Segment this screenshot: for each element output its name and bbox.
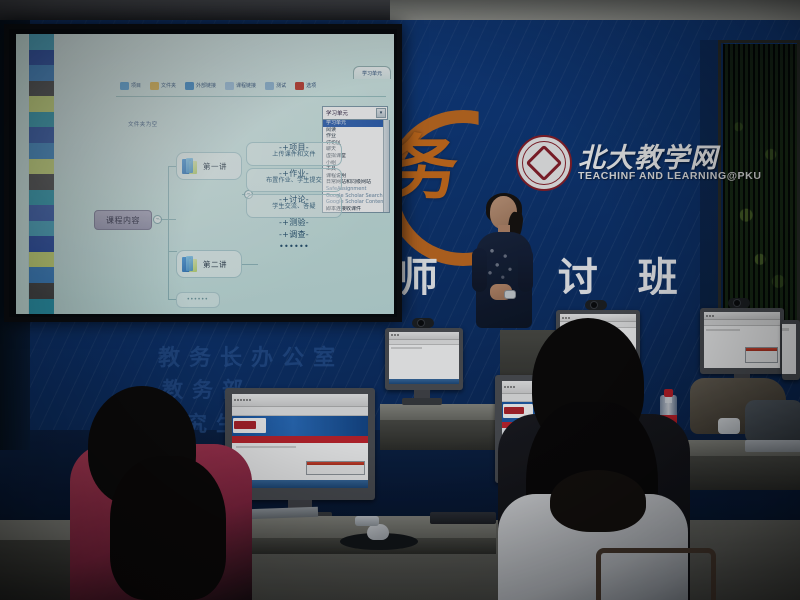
pku-seal-icon	[516, 135, 572, 191]
popup-body	[746, 351, 778, 362]
globe-icon	[185, 82, 194, 90]
shoulder-bag	[745, 400, 800, 444]
color-swatch	[29, 236, 54, 252]
mindmap-branch-desc: 布置作业、学生提交	[249, 178, 339, 185]
link-icon	[225, 82, 234, 90]
color-swatch	[29, 34, 54, 50]
browser-content	[389, 345, 459, 379]
toolbar-button-options[interactable]: 选项	[295, 82, 316, 90]
browser-window[interactable]	[389, 332, 459, 384]
select-value: 学习单元	[326, 109, 348, 117]
color-swatch	[29, 267, 54, 283]
popup-body	[307, 465, 364, 474]
color-swatch	[29, 81, 54, 97]
color-swatch	[29, 112, 54, 128]
toolbar-button-test[interactable]: 测试	[265, 82, 286, 90]
monitor-back-4-screen	[782, 324, 796, 374]
color-swatch	[29, 96, 54, 112]
mindmap-placeholder-node[interactable]: ••••••	[176, 292, 220, 308]
connector-spine	[168, 166, 169, 300]
test-icon	[265, 82, 274, 90]
toolbar-button-globe[interactable]: 外部链接	[185, 82, 216, 90]
color-swatch	[29, 65, 54, 81]
monitor-back-4	[782, 320, 800, 380]
monitor-back-1-base	[402, 398, 442, 405]
mindmap-branch[interactable]: -+作业-布置作业、学生提交	[246, 168, 342, 192]
mindmap-branch[interactable]: -+项目-上传课件和文件	[246, 142, 342, 166]
notification-popup[interactable]	[306, 461, 365, 475]
mindmap-branch-desc: 上传课件和文件	[249, 152, 339, 159]
presenter-wristwatch	[504, 290, 516, 299]
toolbar-button-link[interactable]: 课程链接	[225, 82, 256, 90]
mindmap-branch-desc: 学生交流、答疑	[249, 204, 339, 211]
browser-window[interactable]	[704, 312, 780, 368]
color-swatch	[29, 190, 54, 206]
audience-front-hair	[550, 470, 646, 532]
collapse-toggle-root[interactable]: –	[153, 215, 162, 224]
browser-window[interactable]	[782, 324, 796, 374]
ceiling-left	[0, 0, 400, 22]
toolbar-button-folder[interactable]: 文件夹	[150, 82, 176, 90]
banner-brand-subtitle: TEACHINF AND LEARNING@PKU	[578, 170, 762, 182]
color-swatch	[29, 205, 54, 221]
chair-back	[596, 548, 716, 600]
mindmap-branch-title: ••••••	[248, 243, 340, 251]
browser-content	[704, 326, 780, 368]
banner-headline: 师 研 讨 班	[398, 245, 728, 295]
notification-popup[interactable]	[745, 347, 779, 363]
toolbar-divider	[116, 96, 386, 97]
mindmap-branch-title: -+调查-	[248, 231, 340, 239]
color-calibration-strip	[16, 34, 54, 314]
empty-folder-note: 文件夹为空	[128, 120, 158, 128]
color-swatch	[29, 283, 54, 299]
monitor-back-1-screen	[389, 332, 459, 384]
mindmap-branch[interactable]: -+调查-	[246, 230, 342, 242]
toolbar-button-label: 测试	[276, 82, 286, 89]
webcam-icon	[728, 298, 750, 308]
presenter	[468, 196, 544, 328]
lecture-2-label: 第二讲	[203, 259, 227, 270]
app-toolbar[interactable]: 项目文件夹外部链接课程链接测试选项	[120, 78, 320, 93]
mindmap-branch[interactable]: -+测验-	[246, 218, 342, 230]
color-swatch	[29, 252, 54, 268]
monitor-back-3	[700, 308, 784, 374]
color-swatch	[29, 50, 54, 66]
connector-lecture2-out	[242, 264, 258, 265]
mindmap-branch[interactable]: ••••••	[246, 242, 342, 252]
window-frame	[718, 40, 800, 324]
webcam-icon	[585, 300, 607, 310]
mindmap-root-node[interactable]: 课程内容	[94, 210, 152, 230]
webcam-icon	[412, 318, 434, 328]
options-icon	[295, 82, 304, 90]
mindmap-branch[interactable]: -+讨论-学生交流、答疑	[246, 194, 342, 218]
monitor-back-3-screen	[704, 312, 780, 368]
pku-seal-mark	[526, 145, 563, 182]
mouse[interactable]	[367, 524, 389, 540]
toolbar-button-label: 文件夹	[161, 82, 176, 89]
toolbar-button-label: 外部链接	[196, 82, 216, 89]
keyboard[interactable]	[430, 512, 496, 524]
projection-screen: 项目文件夹外部链接课程链接测试选项 文件夹为空 学习单元 学习单元 ▾ 学习单元…	[16, 34, 394, 314]
dropdown-option[interactable]: 阅读	[323, 127, 389, 134]
color-swatch	[29, 159, 54, 175]
color-swatch	[29, 143, 54, 159]
connector-to-lecture2	[168, 251, 177, 252]
mindmap-branch-group: -+项目-上传课件和文件-+作业-布置作业、学生提交-+讨论-学生交流、答疑-+…	[246, 142, 342, 248]
color-swatch	[29, 127, 54, 143]
color-swatch	[29, 221, 54, 237]
dropdown-tab-label[interactable]: 学习单元	[353, 66, 391, 79]
mindmap-lecture-1[interactable]: 第一讲	[176, 152, 242, 180]
mindmap-branch-title: -+测验-	[248, 219, 340, 227]
mindmap-root-label: 课程内容	[106, 215, 140, 226]
learning-unit-select[interactable]: 学习单元 ▾	[322, 106, 388, 120]
office-sign-1: 教务长办公室	[158, 340, 344, 372]
cup	[355, 516, 379, 526]
browser-titlebar	[389, 332, 459, 340]
toolbar-button-project[interactable]: 项目	[120, 82, 141, 90]
color-swatch-column	[29, 34, 54, 314]
color-swatch	[29, 299, 54, 314]
audience-member-left	[62, 386, 258, 600]
chevron-down-icon[interactable]: ▾	[376, 108, 386, 118]
presenter-blouse-pattern	[482, 242, 522, 286]
folder-icon	[150, 82, 159, 90]
browser-titlebar	[704, 312, 780, 320]
dropdown-option[interactable]: 作业	[323, 133, 389, 140]
mindmap-lecture-2[interactable]: 第二讲	[176, 250, 242, 278]
dropdown-option[interactable]: 学习单元	[323, 120, 389, 127]
dropdown-scrollbar[interactable]	[383, 120, 389, 212]
lecture-1-label: 第一讲	[203, 161, 227, 172]
toolbar-button-label: 选项	[306, 82, 316, 89]
monitor-back-1	[385, 328, 463, 390]
tissue-pack	[718, 418, 740, 434]
classroom-photo-scene: 务 北大教学网 TEACHINF AND LEARNING@PKU 师 研 讨 …	[0, 0, 800, 600]
pku-seal-inner-ring	[522, 141, 566, 185]
toolbar-button-label: 项目	[131, 82, 141, 89]
toolbar-button-label: 课程链接	[236, 82, 256, 89]
color-swatch	[29, 174, 54, 190]
books-icon	[182, 256, 199, 273]
books-icon	[182, 158, 199, 175]
papers-stack	[745, 440, 800, 452]
taskbar[interactable]	[389, 379, 459, 384]
audience-left-hair-long	[110, 456, 226, 600]
project-icon	[120, 82, 129, 90]
